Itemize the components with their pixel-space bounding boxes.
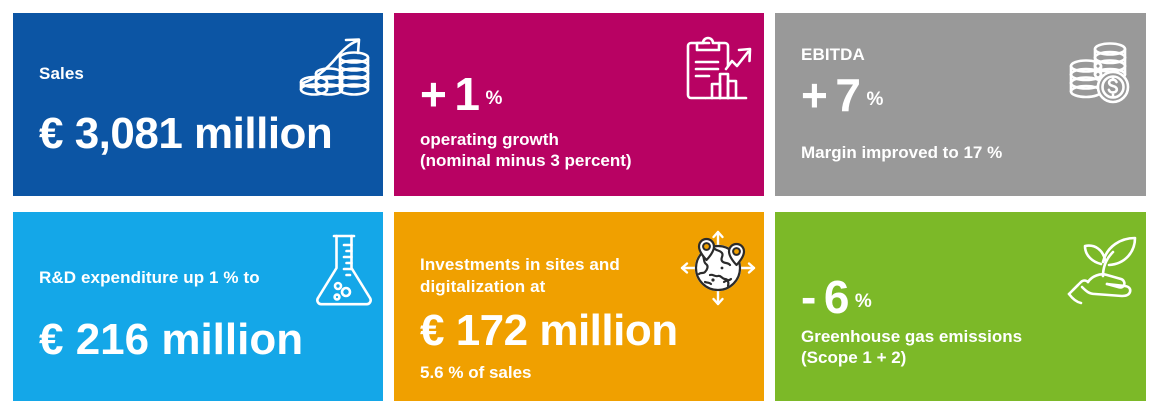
tile-investments-body: Investments in sites and digitalization … [420, 254, 748, 383]
tile-rd-expenditure-body: R&D expenditure up 1 % to € 216 million [39, 267, 367, 363]
tile-ebitda-label: EBITDA [801, 44, 1130, 66]
tile-greenhouse-gas-sign: - [801, 274, 816, 320]
tile-operating-growth-value-row: +1% [420, 71, 748, 117]
tile-operating-growth-subtitle: operating growth (nominal minus 3 percen… [420, 129, 748, 172]
tile-ebitda-subtitle: Margin improved to 17 % [801, 142, 1130, 163]
tile-investments-label-line-2: digitalization at [420, 276, 748, 298]
tile-greenhouse-gas-percent-symbol: % [855, 291, 872, 312]
kpi-tile-rd-expenditure: R&D expenditure up 1 % to € 216 million [13, 212, 383, 401]
tile-operating-growth-body: +1% operating growth (nominal minus 3 pe… [420, 71, 748, 172]
tile-investments-label-line-1: Investments in sites and [420, 254, 748, 276]
tile-investments-label: Investments in sites and digitalization … [420, 254, 748, 298]
tile-greenhouse-gas-subtitle-line-1: Greenhouse gas emissions [801, 326, 1130, 347]
tile-sales-value: € 3,081 million [39, 111, 367, 157]
tile-rd-expenditure-value: € 216 million [39, 317, 367, 363]
tile-ebitda-percent-symbol: % [866, 89, 883, 110]
tile-greenhouse-gas-value-row: -6% [801, 274, 1130, 320]
tile-operating-growth-number: 1 [454, 68, 479, 120]
kpi-tile-ebitda: EBITDA +7% Margin improved to 17 % [775, 13, 1146, 196]
tile-operating-growth-sign: + [420, 71, 446, 117]
tile-sales-label: Sales [39, 63, 367, 85]
tile-ebitda-value-row: +7% [801, 72, 1130, 118]
tile-ebitda-number: 7 [835, 69, 860, 121]
kpi-tile-greenhouse-gas: -6% Greenhouse gas emissions (Scope 1 + … [775, 212, 1146, 401]
tile-greenhouse-gas-subtitle: Greenhouse gas emissions (Scope 1 + 2) [801, 326, 1130, 369]
kpi-tile-grid: Sales € 3,081 million [13, 13, 1146, 401]
tile-greenhouse-gas-subtitle-line-2: (Scope 1 + 2) [801, 347, 1130, 368]
tile-ebitda-body: EBITDA +7% Margin improved to 17 % [801, 44, 1130, 163]
tile-operating-growth-percent-symbol: % [485, 88, 502, 109]
tile-investments-subtitle: 5.6 % of sales [420, 362, 748, 383]
tile-operating-growth-subtitle-line-1: operating growth [420, 129, 748, 150]
tile-operating-growth-subtitle-line-2: (nominal minus 3 percent) [420, 150, 748, 171]
kpi-infographic: Sales € 3,081 million [0, 0, 1159, 415]
tile-greenhouse-gas-body: -6% Greenhouse gas emissions (Scope 1 + … [801, 274, 1130, 369]
tile-investments-value: € 172 million [420, 308, 748, 354]
kpi-tile-operating-growth: +1% operating growth (nominal minus 3 pe… [394, 13, 764, 196]
kpi-tile-investments: Investments in sites and digitalization … [394, 212, 764, 401]
tile-rd-expenditure-label: R&D expenditure up 1 % to [39, 267, 367, 289]
kpi-tile-sales: Sales € 3,081 million [13, 13, 383, 196]
tile-ebitda-sign: + [801, 72, 827, 118]
tile-sales-body: Sales € 3,081 million [39, 63, 367, 157]
tile-greenhouse-gas-number: 6 [824, 271, 849, 323]
